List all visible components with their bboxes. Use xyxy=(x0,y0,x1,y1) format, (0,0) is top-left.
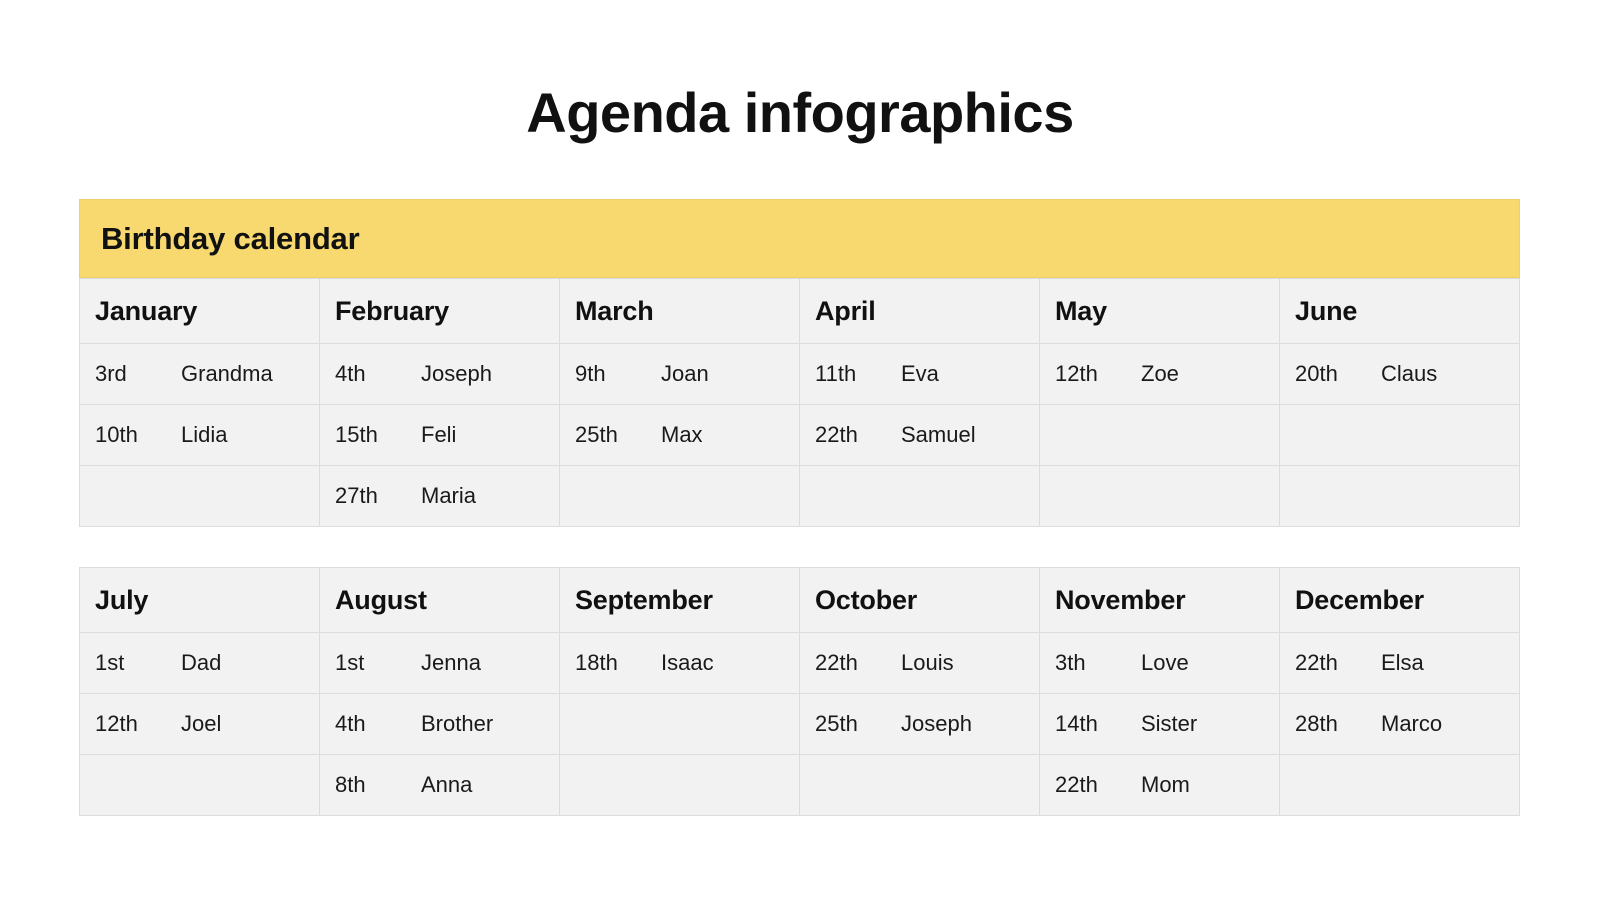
birthday-entry: 22thMom xyxy=(1055,772,1279,798)
birthday-entry-cell: 4thJoseph xyxy=(320,344,560,405)
birthday-day: 9th xyxy=(575,361,661,387)
month-name-label: September xyxy=(575,585,713,615)
birthday-entry-cell: 10thLidia xyxy=(80,405,320,466)
month-header-november: November xyxy=(1040,568,1280,633)
birthday-person: Claus xyxy=(1381,361,1437,387)
birthday-day: 3th xyxy=(1055,650,1141,676)
birthday-entry-cell: 12thZoe xyxy=(1040,344,1280,405)
month-header-row: JulyAugustSeptemberOctoberNovemberDecemb… xyxy=(80,568,1520,633)
birthday-person: Zoe xyxy=(1141,361,1179,387)
birthday-entry-cell: 8thAnna xyxy=(320,755,560,816)
birthday-entry: 22thSamuel xyxy=(815,422,1039,448)
birthday-entry-empty xyxy=(1280,405,1520,466)
birthday-entry-cell: 3thLove xyxy=(1040,633,1280,694)
birthday-entry-cell: 22thElsa xyxy=(1280,633,1520,694)
birthday-day: 22th xyxy=(815,650,901,676)
birthday-entry: 9thJoan xyxy=(575,361,799,387)
birthday-day: 20th xyxy=(1295,361,1381,387)
birthday-entry-empty xyxy=(1280,755,1520,816)
birthday-entry: 8thAnna xyxy=(335,772,559,798)
birthday-person: Brother xyxy=(421,711,493,737)
birthday-entry-cell: 14thSister xyxy=(1040,694,1280,755)
month-header-september: September xyxy=(560,568,800,633)
birthday-person: Mom xyxy=(1141,772,1190,798)
birthday-person: Lidia xyxy=(181,422,227,448)
birthday-person: Grandma xyxy=(181,361,273,387)
birthday-person: Louis xyxy=(901,650,954,676)
birthday-entry-cell: 22thMom xyxy=(1040,755,1280,816)
birthday-entry: 27thMaria xyxy=(335,483,559,509)
birthday-entry: 20thClaus xyxy=(1295,361,1519,387)
birthday-entry: 18thIsaac xyxy=(575,650,799,676)
page-title: Agenda infographics xyxy=(0,82,1600,144)
birthday-entry: 14thSister xyxy=(1055,711,1279,737)
birthday-person: Jenna xyxy=(421,650,481,676)
birthday-entry: 10thLidia xyxy=(95,422,319,448)
birthday-entry-empty xyxy=(80,755,320,816)
month-name-label: May xyxy=(1055,296,1107,326)
birthday-person: Joel xyxy=(181,711,221,737)
table-row: 12thJoel4thBrother25thJoseph14thSister28… xyxy=(80,694,1520,755)
birthday-entry: 25thJoseph xyxy=(815,711,1039,737)
birthday-day: 1st xyxy=(95,650,181,676)
table-row: 10thLidia15thFeli25thMax22thSamuel xyxy=(80,405,1520,466)
birthday-person: Feli xyxy=(421,422,456,448)
birthday-calendar-upper: Birthday calendar JanuaryFebruaryMarchAp… xyxy=(79,199,1520,527)
birthday-entry: 15thFeli xyxy=(335,422,559,448)
birthday-day: 18th xyxy=(575,650,661,676)
birthday-entry: 3rdGrandma xyxy=(95,361,319,387)
birthday-entry-cell: 18thIsaac xyxy=(560,633,800,694)
months-table-second-half: JulyAugustSeptemberOctoberNovemberDecemb… xyxy=(79,567,1520,816)
birthday-day: 1st xyxy=(335,650,421,676)
calendar-banner-title: Birthday calendar xyxy=(101,221,359,257)
birthday-entry-empty xyxy=(800,755,1040,816)
birthday-person: Anna xyxy=(421,772,472,798)
birthday-entry-cell: 15thFeli xyxy=(320,405,560,466)
birthday-entry-cell: 22thLouis xyxy=(800,633,1040,694)
birthday-entry: 1stDad xyxy=(95,650,319,676)
birthday-entry: 12thJoel xyxy=(95,711,319,737)
birthday-day: 3rd xyxy=(95,361,181,387)
month-header-august: August xyxy=(320,568,560,633)
month-name-label: November xyxy=(1055,585,1185,615)
month-header-october: October xyxy=(800,568,1040,633)
month-name-label: June xyxy=(1295,296,1357,326)
birthday-day: 11th xyxy=(815,361,901,387)
birthday-person: Love xyxy=(1141,650,1189,676)
birthday-entry-cell: 28thMarco xyxy=(1280,694,1520,755)
birthday-person: Marco xyxy=(1381,711,1442,737)
month-name-label: March xyxy=(575,296,654,326)
birthday-entry: 22thElsa xyxy=(1295,650,1519,676)
birthday-entry-empty xyxy=(1040,466,1280,527)
month-header-april: April xyxy=(800,279,1040,344)
birthday-day: 12th xyxy=(95,711,181,737)
birthday-entry-cell: 9thJoan xyxy=(560,344,800,405)
birthday-person: Joseph xyxy=(901,711,972,737)
birthday-entry-empty xyxy=(560,466,800,527)
month-name-label: October xyxy=(815,585,917,615)
month-header-july: July xyxy=(80,568,320,633)
birthday-entry: 11thEva xyxy=(815,361,1039,387)
month-name-label: January xyxy=(95,296,197,326)
birthday-day: 25th xyxy=(575,422,661,448)
birthday-day: 15th xyxy=(335,422,421,448)
birthday-entry: 4thJoseph xyxy=(335,361,559,387)
birthday-entry: 22thLouis xyxy=(815,650,1039,676)
month-header-december: December xyxy=(1280,568,1520,633)
birthday-entry-cell: 1stDad xyxy=(80,633,320,694)
birthday-entry-empty xyxy=(560,694,800,755)
birthday-day: 12th xyxy=(1055,361,1141,387)
month-name-label: February xyxy=(335,296,449,326)
month-header-march: March xyxy=(560,279,800,344)
birthday-day: 22th xyxy=(1055,772,1141,798)
birthday-entry: 25thMax xyxy=(575,422,799,448)
birthday-entry-cell: 11thEva xyxy=(800,344,1040,405)
birthday-entry-cell: 4thBrother xyxy=(320,694,560,755)
month-name-label: August xyxy=(335,585,427,615)
month-header-january: January xyxy=(80,279,320,344)
month-name-label: April xyxy=(815,296,876,326)
birthday-day: 25th xyxy=(815,711,901,737)
birthday-day: 4th xyxy=(335,361,421,387)
birthday-person: Isaac xyxy=(661,650,714,676)
birthday-day: 22th xyxy=(815,422,901,448)
birthday-day: 4th xyxy=(335,711,421,737)
birthday-person: Sister xyxy=(1141,711,1197,737)
birthday-day: 22th xyxy=(1295,650,1381,676)
month-header-row: JanuaryFebruaryMarchAprilMayJune xyxy=(80,279,1520,344)
birthday-entry-cell: 27thMaria xyxy=(320,466,560,527)
birthday-entry-cell: 25thMax xyxy=(560,405,800,466)
birthday-entry-empty xyxy=(1040,405,1280,466)
birthday-person: Dad xyxy=(181,650,221,676)
table-row: 8thAnna22thMom xyxy=(80,755,1520,816)
birthday-person: Eva xyxy=(901,361,939,387)
birthday-day: 27th xyxy=(335,483,421,509)
birthday-entry-empty xyxy=(800,466,1040,527)
birthday-person: Max xyxy=(661,422,703,448)
table-row: 27thMaria xyxy=(80,466,1520,527)
birthday-entry-cell: 1stJenna xyxy=(320,633,560,694)
birthday-entry-empty xyxy=(1280,466,1520,527)
birthday-entry-cell: 20thClaus xyxy=(1280,344,1520,405)
birthday-day: 14th xyxy=(1055,711,1141,737)
slide-canvas: Agenda infographics Birthday calendar Ja… xyxy=(0,0,1600,900)
calendar-banner: Birthday calendar xyxy=(79,199,1520,278)
month-header-may: May xyxy=(1040,279,1280,344)
month-entries-body: 1stDad1stJenna18thIsaac22thLouis3thLove2… xyxy=(80,633,1520,816)
birthday-person: Elsa xyxy=(1381,650,1424,676)
birthday-person: Maria xyxy=(421,483,476,509)
table-row: 1stDad1stJenna18thIsaac22thLouis3thLove2… xyxy=(80,633,1520,694)
birthday-day: 8th xyxy=(335,772,421,798)
table-row: 3rdGrandma4thJoseph9thJoan11thEva12thZoe… xyxy=(80,344,1520,405)
birthday-entry-cell: 22thSamuel xyxy=(800,405,1040,466)
birthday-entry: 28thMarco xyxy=(1295,711,1519,737)
month-header-february: February xyxy=(320,279,560,344)
birthday-entry-cell: 3rdGrandma xyxy=(80,344,320,405)
birthday-person: Joseph xyxy=(421,361,492,387)
birthday-entry-empty xyxy=(80,466,320,527)
birthday-entry: 4thBrother xyxy=(335,711,559,737)
birthday-person: Joan xyxy=(661,361,709,387)
birthday-day: 10th xyxy=(95,422,181,448)
birthday-entry: 3thLove xyxy=(1055,650,1279,676)
birthday-calendar-lower: JulyAugustSeptemberOctoberNovemberDecemb… xyxy=(79,567,1520,816)
birthday-entry-empty xyxy=(560,755,800,816)
month-name-label: July xyxy=(95,585,148,615)
birthday-entry: 12thZoe xyxy=(1055,361,1279,387)
birthday-entry: 1stJenna xyxy=(335,650,559,676)
birthday-entry-cell: 12thJoel xyxy=(80,694,320,755)
birthday-entry-cell: 25thJoseph xyxy=(800,694,1040,755)
months-table-first-half: JanuaryFebruaryMarchAprilMayJune 3rdGran… xyxy=(79,278,1520,527)
month-name-label: December xyxy=(1295,585,1424,615)
month-header-june: June xyxy=(1280,279,1520,344)
birthday-person: Samuel xyxy=(901,422,976,448)
month-entries-body: 3rdGrandma4thJoseph9thJoan11thEva12thZoe… xyxy=(80,344,1520,527)
birthday-day: 28th xyxy=(1295,711,1381,737)
